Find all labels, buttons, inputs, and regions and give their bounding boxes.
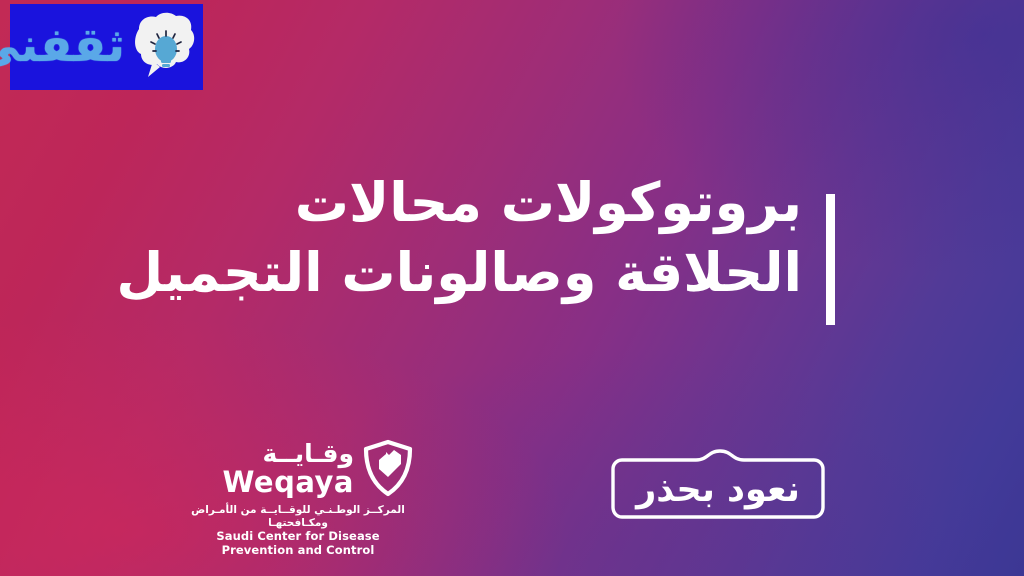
watermark-logo: ثقفني	[10, 4, 203, 90]
shield-heart-icon	[362, 439, 414, 497]
weqaya-name-english: Weqaya	[222, 468, 354, 497]
weqaya-primary-row: وقـايــة Weqaya	[182, 440, 414, 502]
vertical-divider-bar	[826, 194, 835, 325]
campaign-badge: نعود بحذر	[604, 447, 832, 525]
campaign-badge-label: نعود بحذر	[604, 447, 832, 525]
speech-bubble-lightbulb-icon	[129, 11, 197, 83]
watermark-site-name: ثقفني	[0, 22, 125, 69]
weqaya-wordmark: وقـايــة Weqaya	[222, 440, 354, 497]
weqaya-logo-lockup: وقـايــة Weqaya المركــز الوطـنـي للوقــ…	[182, 440, 414, 536]
weqaya-subtitle-arabic: المركــز الوطـنـي للوقــايــة من الأمـرا…	[182, 504, 414, 530]
banner-image: ثقفني بروتوكولات محالات الح	[0, 0, 1024, 576]
weqaya-subtitle-english: Saudi Center for Disease Prevention and …	[182, 530, 414, 558]
weqaya-name-arabic: وقـايــة	[222, 441, 354, 467]
headline-text: بروتوكولات محالات الحلاقة وصالونات التجم…	[40, 168, 802, 308]
